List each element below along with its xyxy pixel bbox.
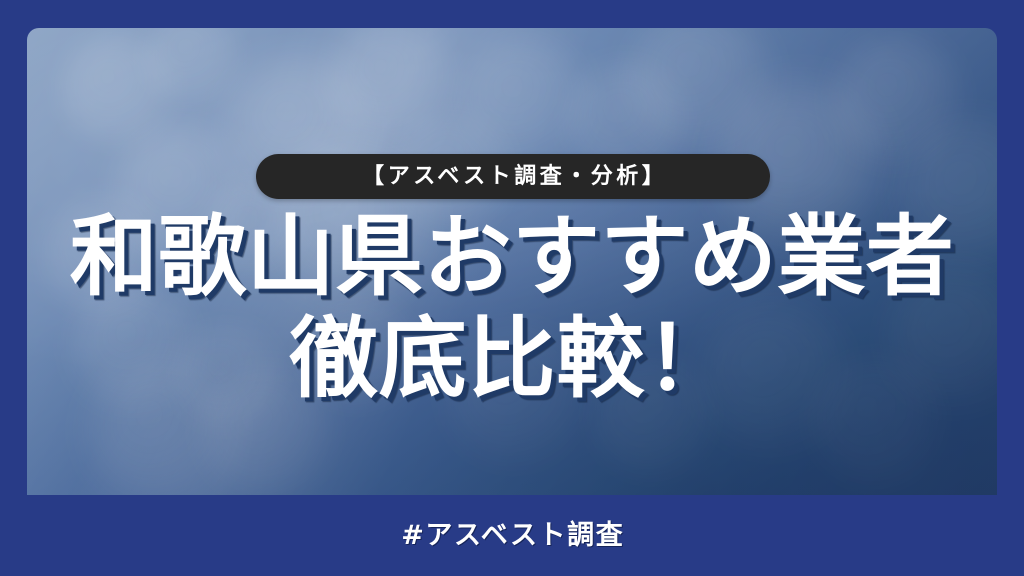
headline-line-1: 和歌山県おすすめ業者 [0,206,1024,308]
footer-bar: #アスベスト調査 [0,495,1024,576]
footer-hashtag: #アスベスト調査 [400,522,625,549]
headline-block: 和歌山県おすすめ業者 徹底比較！ [0,206,1024,410]
category-badge-label: 【アスベスト調査・分析】 [359,166,668,188]
bokeh-circle [457,36,589,168]
bokeh-circle [61,34,173,146]
bokeh-circle [833,36,961,164]
slide-canvas: 【アスベスト調査・分析】 和歌山県おすすめ業者 徹底比較！ #アスベスト調査 [0,0,1024,576]
bokeh-circle [145,28,241,106]
category-badge: 【アスベスト調査・分析】 [256,154,770,199]
bokeh-circle [327,28,455,146]
bokeh-circle [627,28,773,154]
headline-line-2: 徹底比較！ [0,308,1024,410]
